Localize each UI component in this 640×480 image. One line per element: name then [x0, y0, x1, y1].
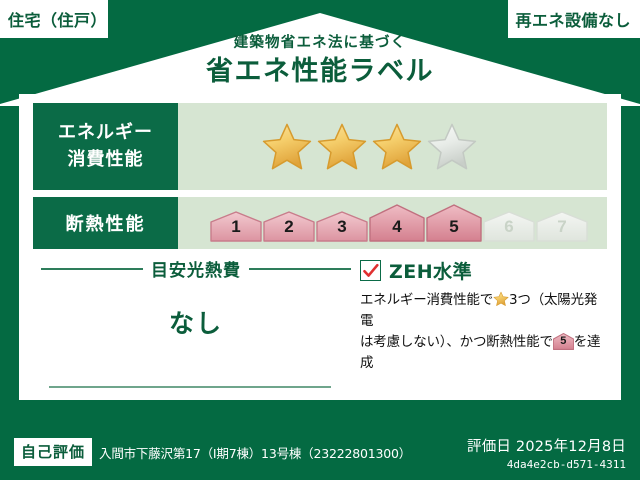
rule-right: [249, 268, 351, 270]
insulation-level-scale: 1 2 3: [210, 204, 588, 242]
insulation-performance-value: 1 2 3: [178, 197, 607, 249]
renewable-energy-tag: 再エネ設備なし: [508, 0, 640, 38]
insulation-level-number: 4: [369, 217, 425, 237]
star-icon-empty: [426, 121, 478, 173]
insulation-performance-label-text: 断熱性能: [66, 210, 146, 236]
utility-cost-value: なし: [41, 304, 351, 340]
evaluation-date: 評価日 2025年12月8日: [467, 435, 626, 456]
self-evaluation-badge: 自己評価: [14, 438, 92, 466]
building-type-tag: 住宅（住戸）: [0, 0, 108, 38]
insulation-level-badge: 5: [426, 204, 482, 242]
renewable-energy-label: 再エネ設備なし: [515, 7, 631, 31]
insulation-level-badge: 7: [536, 211, 588, 242]
label-title-block: 建築物省エネ法に基づく 省エネ性能ラベル: [0, 36, 640, 89]
zeh-title: ZEH水準: [389, 257, 472, 284]
zeh-desc-part1: エネルギー消費性能で: [360, 292, 493, 308]
utility-cost-header: 目安光熱費: [41, 256, 351, 281]
label-card: エネルギー 消費性能: [19, 94, 621, 400]
star-rating: [261, 121, 478, 173]
energy-performance-value: [178, 103, 607, 190]
star-icon-filled: [316, 121, 368, 173]
zeh-standard-block: ZEH水準 エネルギー消費性能で3つ（太陽光発電は考慮しない）、かつ断熱性能で5…: [360, 257, 610, 374]
insulation-level-badge: 4: [369, 204, 425, 242]
rule-left: [41, 268, 143, 270]
insulation-level-number: 3: [316, 217, 368, 237]
utility-cost-title: 目安光熱費: [151, 256, 241, 281]
energy-performance-label: 住宅（住戸） 再エネ設備なし 建築物省エネ法に基づく 省エネ性能ラベル エネルギ…: [0, 0, 640, 480]
star-icon-inline: [493, 291, 509, 307]
check-icon: [362, 262, 380, 280]
utility-cost-bottom-rule: [49, 386, 331, 388]
insulation-level-badge-inline: 5: [553, 333, 574, 350]
insulation-level-number: 1: [210, 217, 262, 237]
footer-left: 自己評価 入間市下藤沢第17（Ⅰ期7棟）13号棟（23222801300）: [14, 438, 411, 466]
property-address: 入間市下藤沢第17（Ⅰ期7棟）13号棟（23222801300）: [99, 443, 411, 462]
zeh-description: エネルギー消費性能で3つ（太陽光発電は考慮しない）、かつ断熱性能で5を達成: [360, 290, 610, 374]
insulation-level-badge: 3: [316, 211, 368, 242]
energy-performance-label-line2: 消費性能: [68, 147, 144, 173]
star-icon-filled: [261, 121, 313, 173]
energy-performance-label-line1: エネルギー: [58, 120, 153, 146]
zeh-checkbox[interactable]: [360, 260, 381, 281]
title-main: 省エネ性能ラベル: [0, 55, 640, 89]
footer-right: 評価日 2025年12月8日 4da4e2cb-d571-4311: [467, 435, 626, 471]
energy-performance-label: エネルギー 消費性能: [33, 103, 178, 190]
title-subtitle: 建築物省エネ法に基づく: [0, 36, 640, 52]
insulation-performance-label: 断熱性能: [33, 197, 178, 249]
star-icon-filled: [371, 121, 423, 173]
insulation-performance-row: 断熱性能 1: [33, 197, 607, 249]
insulation-level-badge: 6: [483, 211, 535, 242]
energy-performance-row: エネルギー 消費性能: [33, 103, 607, 190]
zeh-header: ZEH水準: [360, 257, 610, 284]
insulation-level-number: 7: [536, 217, 588, 237]
insulation-level-number: 6: [483, 217, 535, 237]
insulation-level-number-inline: 5: [553, 333, 574, 350]
insulation-level-number: 2: [263, 217, 315, 237]
lower-section: 目安光熱費 なし ZEH水準 エネルギー消費性能で3つ（太陽光発電は考慮しない）…: [19, 256, 621, 400]
zeh-desc-part2: は考慮しない）、かつ断熱性能で: [360, 334, 553, 350]
evaluation-id: 4da4e2cb-d571-4311: [467, 458, 626, 471]
building-type-label: 住宅（住戸）: [8, 7, 107, 31]
insulation-level-number: 5: [426, 217, 482, 237]
insulation-level-badge: 1: [210, 211, 262, 242]
insulation-level-badge: 2: [263, 211, 315, 242]
